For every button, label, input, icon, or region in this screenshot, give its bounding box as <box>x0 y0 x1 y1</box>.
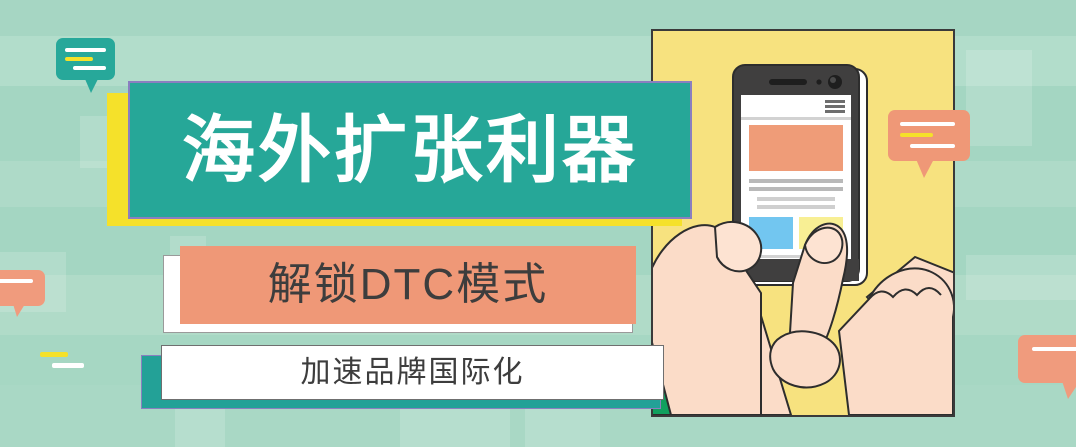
bubble-line <box>65 57 93 61</box>
phone-sensor <box>816 79 821 84</box>
bubble-line <box>1032 347 1076 351</box>
background-block <box>966 50 1032 146</box>
hamburger-icon <box>825 100 845 113</box>
tagline-text: 加速品牌国际化 <box>301 358 525 388</box>
bubble-line <box>73 66 106 70</box>
speech-bubble-salmon-left <box>0 270 45 306</box>
promo-banner: 海外扩张利器 解锁DTC模式 加速品牌国际化 <box>0 0 1076 447</box>
bubble-tail <box>1062 381 1076 399</box>
screen-hero-banner <box>749 125 843 171</box>
bubble-line <box>900 122 955 126</box>
bubble-line <box>910 144 955 148</box>
hands-holding-smartphone-illustration <box>653 31 953 415</box>
decorative-bar-yellow <box>40 352 68 357</box>
bubble-tail <box>13 304 25 317</box>
subtitle-text: 解锁DTC模式 <box>268 263 548 307</box>
title-banner: 海外扩张利器 <box>128 81 692 219</box>
screen-text-line <box>757 197 835 201</box>
tagline-banner: 加速品牌国际化 <box>161 345 664 400</box>
phone-camera-glint <box>830 77 836 83</box>
bubble-line <box>900 133 933 137</box>
speech-bubble-teal-top-left <box>56 38 115 80</box>
speech-bubble-salmon-right <box>888 110 970 161</box>
illustration-panel <box>651 29 955 417</box>
bubble-body <box>1018 335 1076 383</box>
subtitle-banner: 解锁DTC模式 <box>180 246 636 324</box>
bubble-body <box>0 270 45 306</box>
screen-text-line <box>749 187 843 191</box>
bubble-line <box>65 48 106 52</box>
bubble-line <box>0 279 33 283</box>
bubble-tail <box>916 159 934 178</box>
page-title: 海外扩张利器 <box>182 114 638 187</box>
screen-text-line <box>757 205 835 209</box>
phone-speaker <box>769 79 807 85</box>
right-thumb <box>770 331 840 387</box>
bubble-tail <box>85 79 98 93</box>
screen-text-line <box>749 179 843 183</box>
decorative-bar-white <box>52 363 84 368</box>
speech-bubble-salmon-bottom-right <box>1018 335 1076 383</box>
background-block <box>966 255 1076 300</box>
screen-divider <box>741 117 851 120</box>
